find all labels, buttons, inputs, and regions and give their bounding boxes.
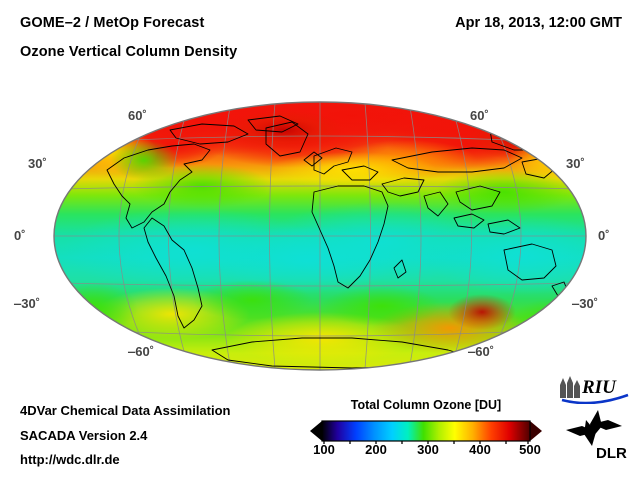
- riu-towers-icon: [560, 376, 580, 398]
- globe-projection: [52, 100, 588, 372]
- forecast-datetime: Apr 18, 2013, 12:00 GMT: [455, 15, 622, 31]
- lat-label-left-30: 30˚: [28, 156, 47, 171]
- globe-svg: [52, 100, 588, 372]
- colorbar-tick-400: 400: [469, 442, 491, 457]
- dlr-logo: DLR: [562, 408, 632, 460]
- colorbar-tick-300: 300: [417, 442, 439, 457]
- colorbar-tick-100: 100: [313, 442, 335, 457]
- product-title: Ozone Vertical Column Density: [20, 44, 237, 60]
- footer-line-version: SACADA Version 2.4: [20, 428, 147, 443]
- riu-wordmark: RIU: [581, 377, 617, 398]
- colorbar-title: Total Column Ozone [DU]: [310, 398, 542, 412]
- colorbar-tick-labels: 100 200 300 400 500: [310, 442, 542, 462]
- riu-logo: RIU: [556, 374, 632, 404]
- footer-line-method: 4DVar Chemical Data Assimilation: [20, 403, 231, 418]
- colorbar-tick-500: 500: [519, 442, 541, 457]
- lat-label-left-m30: ‒30˚: [14, 296, 40, 311]
- colorbar: Total Column Ozone [DU]: [310, 398, 542, 476]
- lat-label-right-0: 0˚: [598, 228, 610, 243]
- ozone-map: 60˚ 30˚ 0˚ ‒30˚ ‒60˚ 60˚ 30˚ 0˚ ‒30˚ ‒60…: [0, 80, 640, 390]
- instrument-title: GOME–2 / MetOp Forecast: [20, 15, 204, 31]
- dlr-pinwheel-icon: [566, 410, 622, 446]
- colorbar-tick-200: 200: [365, 442, 387, 457]
- footer-line-url: http://wdc.dlr.de: [20, 452, 120, 467]
- dlr-wordmark: DLR: [596, 445, 627, 460]
- lat-label-left-0: 0˚: [14, 228, 26, 243]
- colorbar-swatch: [310, 418, 542, 444]
